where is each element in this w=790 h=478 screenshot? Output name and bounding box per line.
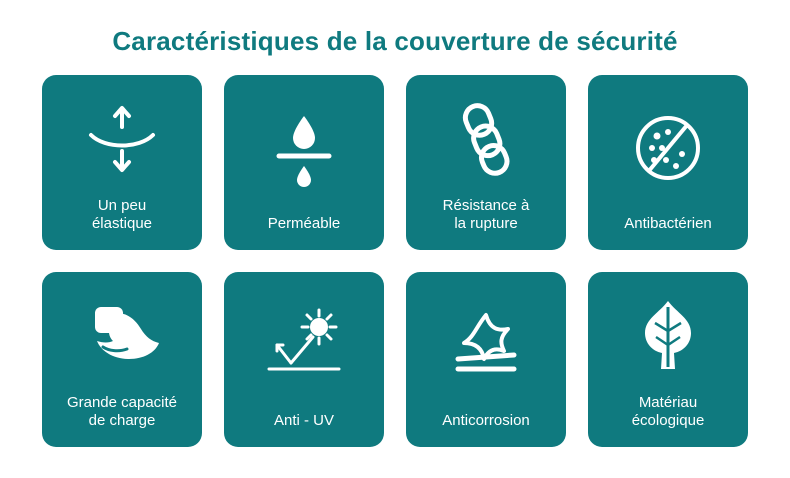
feature-card-load-capacity[interactable]: Grande capacité de charge [42, 272, 202, 447]
feature-card-label: Résistance à la rupture [406, 197, 566, 251]
feature-card-label: Antibactérien [588, 215, 748, 250]
feature-card-ecological[interactable]: Matériau écologique [588, 272, 748, 447]
feature-card-permeable[interactable]: Perméable [224, 75, 384, 250]
feature-card-label: Anti - UV [224, 412, 384, 447]
feature-card-label: Un peu élastique [42, 197, 202, 251]
feature-card-label: Anticorrosion [406, 412, 566, 447]
antibacterial-cell-icon [588, 75, 748, 215]
infographic-page: Caractéristiques de la couverture de séc… [0, 0, 790, 478]
feature-card-grid: Un peu élastique Perméable [0, 75, 790, 447]
feature-card-label: Matériau écologique [588, 394, 748, 448]
feature-card-elastic[interactable]: Un peu élastique [42, 75, 202, 250]
page-title: Caractéristiques de la couverture de séc… [0, 0, 790, 57]
flexed-arm-muscle-icon [42, 272, 202, 394]
feature-card-label: Perméable [224, 215, 384, 250]
feature-card-label: Grande capacité de charge [42, 394, 202, 448]
feature-card-anti-uv[interactable]: Anti - UV [224, 272, 384, 447]
anticorrosion-splash-icon [406, 272, 566, 412]
feature-card-rupture-resistance[interactable]: Résistance à la rupture [406, 75, 566, 250]
water-droplet-permeable-icon [224, 75, 384, 215]
elastic-arrows-icon [42, 75, 202, 197]
sun-uv-rays-icon [224, 272, 384, 412]
feature-card-antibacterial[interactable]: Antibactérien [588, 75, 748, 250]
feature-card-anticorrosion[interactable]: Anticorrosion [406, 272, 566, 447]
chain-link-icon [406, 75, 566, 197]
leaf-eco-icon [588, 272, 748, 394]
